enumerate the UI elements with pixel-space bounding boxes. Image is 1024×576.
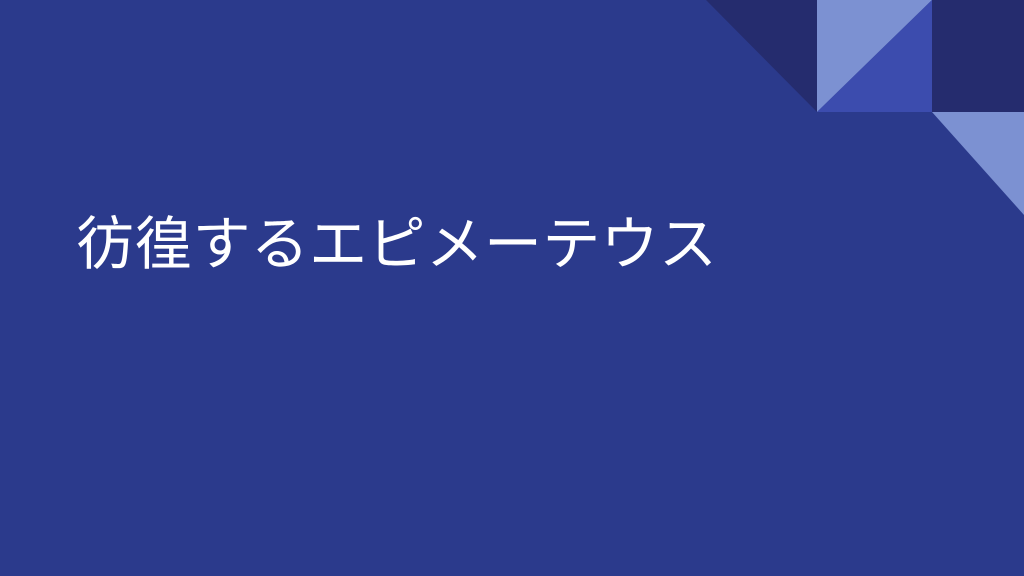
title-placeholder: 彷徨するエピメーテウス [76,196,896,292]
presentation-slide: 彷徨するエピメーテウス [0,0,1024,576]
page-title: 彷徨するエピメーテウス [76,211,717,278]
